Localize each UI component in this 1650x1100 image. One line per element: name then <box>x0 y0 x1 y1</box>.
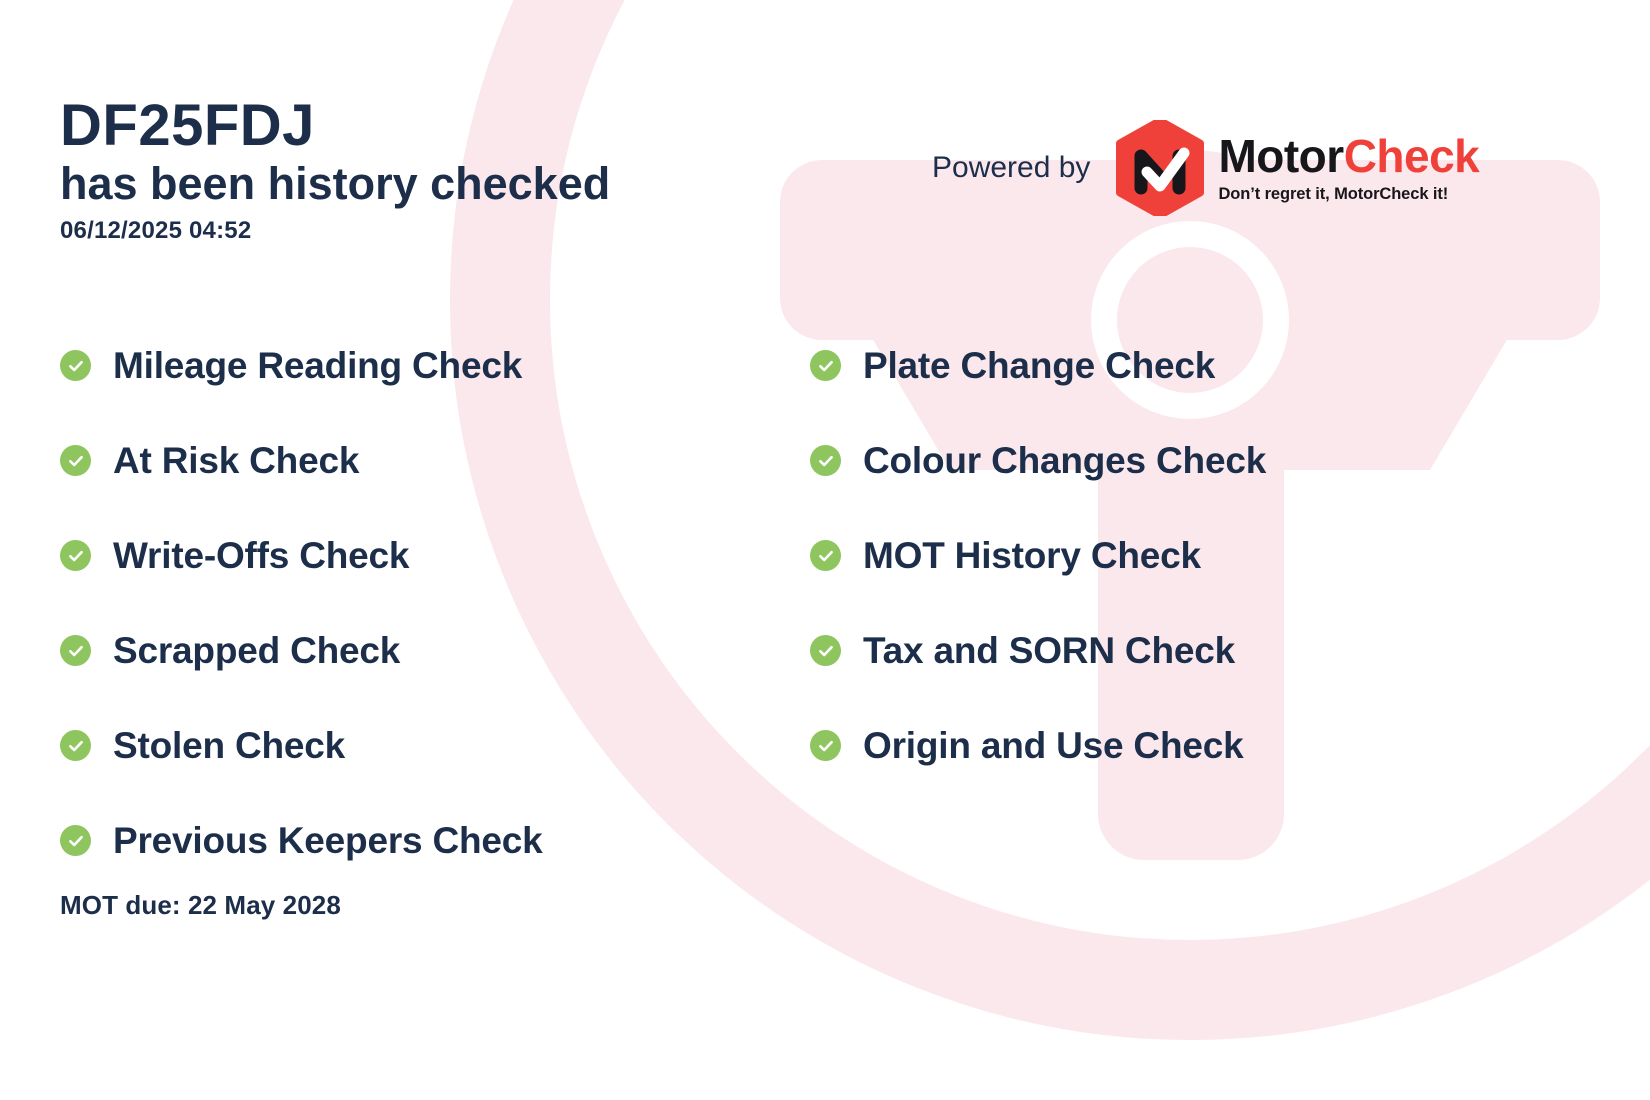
check-circle-icon <box>60 445 91 476</box>
powered-by-row: Powered by MotorCheck Don’t regret it, M… <box>932 120 1479 216</box>
history-check-card: DF25FDJ has been history checked 06/12/2… <box>0 0 1650 1100</box>
check-circle-icon <box>60 825 91 856</box>
wordmark-motor: Motor <box>1218 130 1343 182</box>
check-item-at-risk: At Risk Check <box>60 413 760 508</box>
check-label: Tax and SORN Check <box>863 630 1235 672</box>
check-item-mileage-reading: Mileage Reading Check <box>60 318 760 413</box>
page-title: has been history checked <box>60 159 610 209</box>
wordmark-check: Check <box>1344 130 1480 182</box>
check-circle-icon <box>810 445 841 476</box>
motorcheck-hexagon-logo-icon <box>1116 120 1204 216</box>
motorcheck-wordmark: MotorCheck <box>1218 133 1479 179</box>
header-block: DF25FDJ has been history checked 06/12/2… <box>60 96 610 245</box>
checks-column-right: Plate Change Check Colour Changes Check … <box>810 318 1510 793</box>
check-label: At Risk Check <box>113 440 359 482</box>
vehicle-registration: DF25FDJ <box>60 96 610 157</box>
check-label: Colour Changes Check <box>863 440 1266 482</box>
check-circle-icon <box>810 540 841 571</box>
check-label: MOT History Check <box>863 535 1201 577</box>
check-item-write-offs: Write-Offs Check <box>60 508 760 603</box>
powered-by-label: Powered by <box>932 151 1090 185</box>
check-item-plate-change: Plate Change Check <box>810 318 1510 413</box>
check-label: Stolen Check <box>113 725 345 767</box>
check-label: Previous Keepers Check <box>113 820 543 862</box>
check-circle-icon <box>60 635 91 666</box>
check-label: Plate Change Check <box>863 345 1215 387</box>
check-item-stolen: Stolen Check <box>60 698 760 793</box>
check-item-previous-keepers: Previous Keepers Check <box>60 793 760 888</box>
check-item-origin-and-use: Origin and Use Check <box>810 698 1510 793</box>
motorcheck-logo[interactable]: MotorCheck Don’t regret it, MotorCheck i… <box>1116 120 1479 216</box>
check-timestamp: 06/12/2025 04:52 <box>60 217 610 245</box>
check-item-tax-and-sorn: Tax and SORN Check <box>810 603 1510 698</box>
check-circle-icon <box>60 730 91 761</box>
check-circle-icon <box>810 635 841 666</box>
check-label: Write-Offs Check <box>113 535 409 577</box>
check-circle-icon <box>810 730 841 761</box>
check-item-colour-changes: Colour Changes Check <box>810 413 1510 508</box>
check-circle-icon <box>60 350 91 381</box>
check-item-scrapped: Scrapped Check <box>60 603 760 698</box>
check-label: Scrapped Check <box>113 630 400 672</box>
check-circle-icon <box>60 540 91 571</box>
check-label: Origin and Use Check <box>863 725 1244 767</box>
brand-tagline: Don’t regret it, MotorCheck it! <box>1218 185 1479 204</box>
check-label: Mileage Reading Check <box>113 345 522 387</box>
check-item-mot-history: MOT History Check <box>810 508 1510 603</box>
mot-due-text: MOT due: 22 May 2028 <box>60 890 341 921</box>
checks-column-left: Mileage Reading Check At Risk Check Writ… <box>60 318 760 888</box>
check-circle-icon <box>810 350 841 381</box>
